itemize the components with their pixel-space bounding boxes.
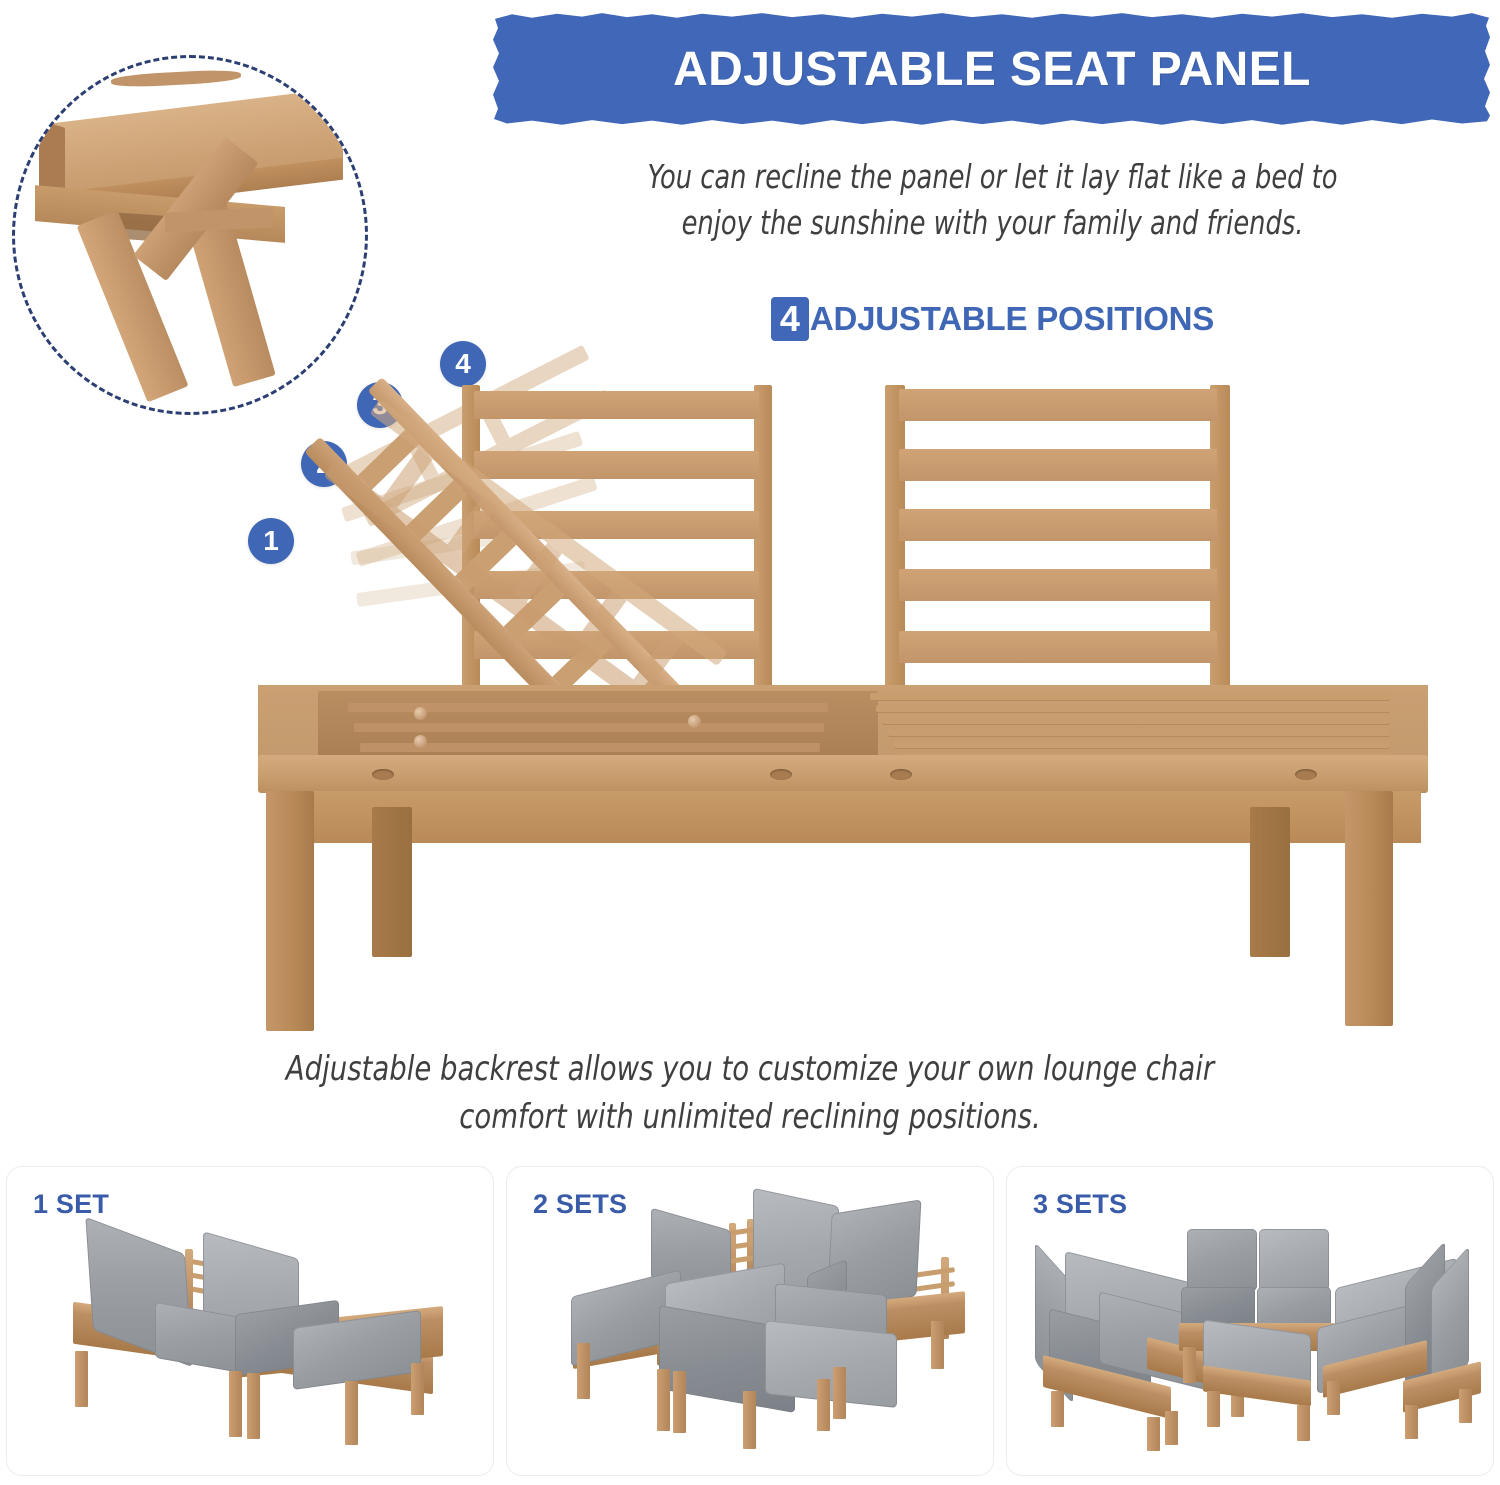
set-card-3[interactable]: 3 SETS [1006,1166,1494,1476]
seat-slats-right [870,689,1400,761]
dowel-hole-right1 [890,769,912,780]
double-daybed-art [507,1167,993,1475]
positions-label: ADJUSTABLE POSITIONS [810,300,1214,338]
single-chaise-lounge-art [7,1167,493,1475]
caption-line-2: comfort with unlimited reclining positio… [210,1093,1290,1141]
set-card-2[interactable]: 2 SETS [506,1166,994,1476]
subtitle-text: You can recline the panel or let it lay … [550,155,1434,246]
bottom-caption: Adjustable backrest allows you to custom… [210,1045,1290,1142]
seat-frame-apron [266,791,1421,843]
reclining-mechanism-cavity [318,691,878,763]
configuration-cards: 1 SET [0,1166,1500,1484]
sectional-with-ottoman-art [1007,1167,1493,1475]
adjustable-positions-heading: 4 ADJUSTABLE POSITIONS [490,297,1495,341]
lounge-chair-illustration [230,355,1460,1055]
leg-back-right [1250,807,1290,957]
positions-count-badge: 4 [771,297,809,341]
hero-section: ADJUSTABLE SEAT PANEL You can recline th… [0,0,1500,1160]
caption-line-1: Adjustable backrest allows you to custom… [210,1045,1290,1093]
dowel-hole-mid [770,769,792,780]
seat-frame-front-rail [258,755,1428,793]
subtitle-line-1: You can recline the panel or let it lay … [550,155,1434,201]
dowel-hole-right2 [1295,769,1317,780]
leg-front-left [266,791,314,1031]
dowel-hole-left [372,769,394,780]
leg-back-left [372,807,412,957]
subtitle-line-2: enjoy the sunshine with your family and … [550,201,1434,247]
banner-title: ADJUSTABLE SEAT PANEL [492,12,1492,127]
set-card-1[interactable]: 1 SET [6,1166,494,1476]
title-banner: ADJUSTABLE SEAT PANEL [492,12,1492,127]
right-backrest [885,385,1230,695]
leg-front-right [1345,791,1393,1026]
